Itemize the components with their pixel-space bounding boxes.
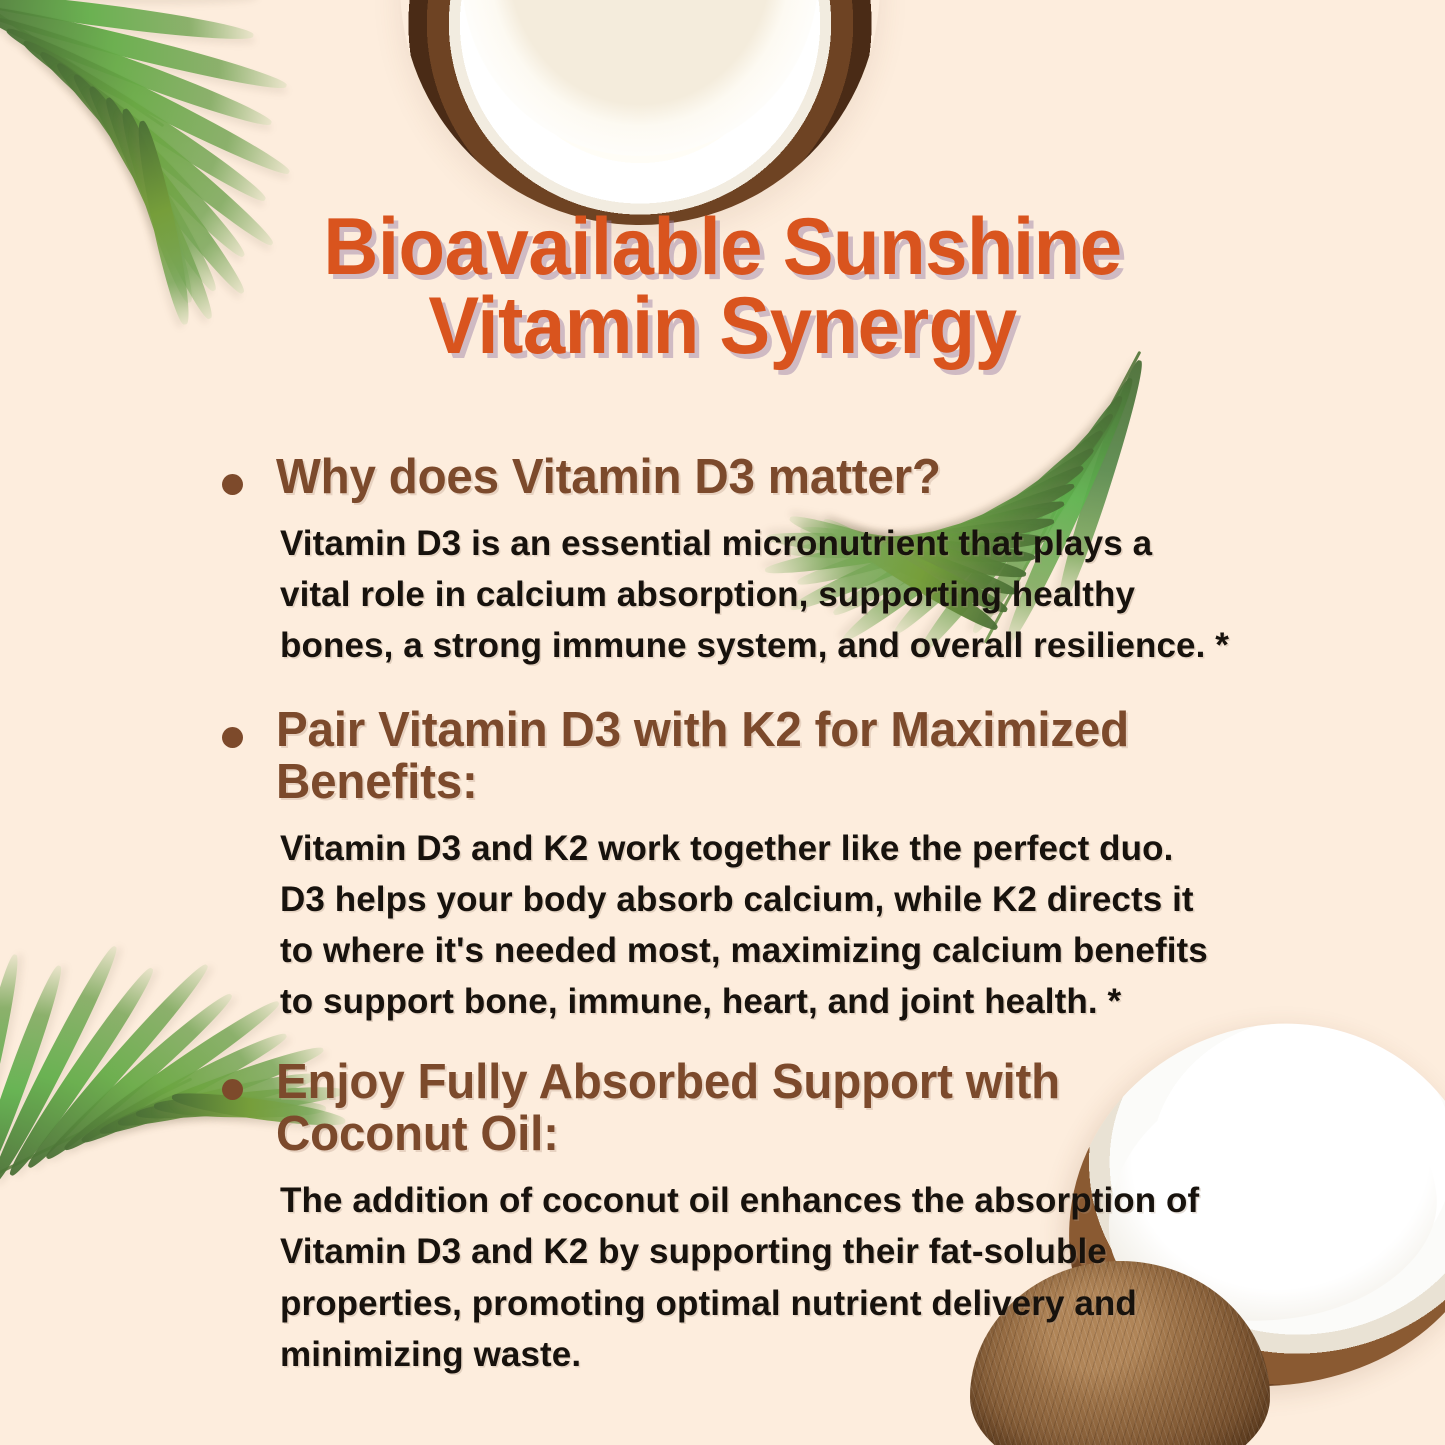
palm-leaflet — [0, 952, 25, 1203]
product-info-poster: Bioavailable Sunshine Vitamin Synergy Wh… — [0, 0, 1445, 1445]
palm-stem — [0, 0, 164, 127]
body-line: to where it's needed most, maximizing ca… — [280, 925, 1200, 976]
coconut-half-top-icon — [400, 0, 880, 225]
section-pair-d3-k2: Pair Vitamin D3 with K2 for Maximized Be… — [204, 705, 1244, 1027]
body-line: Vitamin D3 and K2 by supporting their fa… — [280, 1226, 1200, 1277]
body-line: Vitamin D3 and K2 work together like the… — [280, 823, 1200, 874]
body-line: minimizing waste. — [280, 1329, 1200, 1380]
section-vitamin-d3-matter: Why does Vitamin D3 matter? Vitamin D3 i… — [204, 452, 1244, 671]
section-list: Why does Vitamin D3 matter? Vitamin D3 i… — [204, 452, 1244, 1414]
page-title-line-1: Bioavailable Sunshine — [43, 208, 1401, 287]
bullet-icon — [222, 474, 243, 495]
bullet-icon — [222, 727, 243, 748]
palm-leaflet — [2, 20, 294, 182]
body-line: Vitamin D3 is an essential micronutrient… — [280, 518, 1200, 569]
body-line: The addition of coconut oil enhances the… — [280, 1175, 1200, 1226]
palm-leaflet — [3, 963, 160, 1181]
section-body: The addition of coconut oil enhances the… — [280, 1175, 1200, 1379]
body-line: properties, promoting optimal nutrient d… — [280, 1278, 1200, 1329]
body-line: D3 helps your body absorb calcium, while… — [280, 874, 1200, 925]
palm-stem — [0, 1077, 192, 1202]
section-heading: Pair Vitamin D3 with K2 for Maximized Be… — [276, 705, 1215, 809]
section-heading: Why does Vitamin D3 matter? — [276, 452, 1215, 504]
page-title-line-2: Vitamin Synergy — [43, 287, 1401, 366]
palm-leaflet — [0, 0, 257, 3]
body-line: bones, a strong immune system, and overa… — [280, 620, 1200, 671]
bullet-icon — [222, 1079, 243, 1100]
section-coconut-oil: Enjoy Fully Absorbed Support with Coconu… — [204, 1057, 1244, 1379]
section-body: Vitamin D3 is an essential micronutrient… — [280, 518, 1200, 671]
section-heading: Enjoy Fully Absorbed Support with Coconu… — [276, 1057, 1215, 1161]
page-title: Bioavailable Sunshine Vitamin Synergy — [43, 208, 1401, 367]
palm-leaflet — [0, 0, 289, 96]
body-line: vital role in calcium absorption, suppor… — [280, 569, 1200, 620]
palm-leaflet — [0, 9, 274, 134]
heading-line: Pair Vitamin D3 with K2 for — [276, 703, 877, 757]
palm-leaflet — [0, 0, 255, 47]
palm-leaflet — [0, 942, 125, 1189]
section-body: Vitamin D3 and K2 work together like the… — [280, 823, 1200, 1027]
heading-line: Enjoy Fully Absorbed Support with — [276, 1055, 1060, 1109]
palm-leaflet — [22, 958, 215, 1173]
palm-leaflet — [0, 962, 68, 1196]
coconut-top-flesh — [462, 0, 818, 156]
palm-leaflet — [18, 32, 271, 208]
heading-line: Coconut Oil: — [276, 1107, 559, 1161]
body-line: to support bone, immune, heart, and join… — [280, 976, 1200, 1027]
